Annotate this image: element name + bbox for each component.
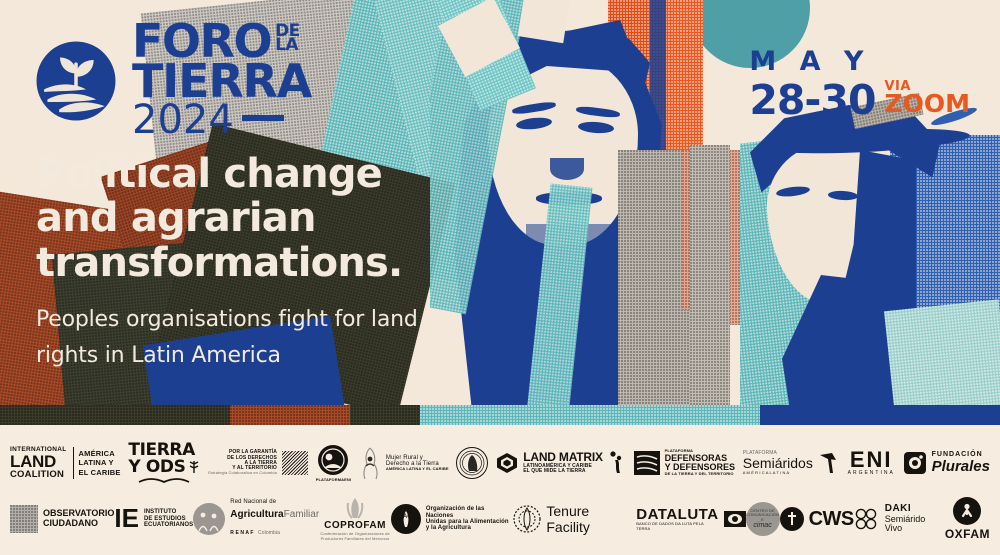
logo-red-nacional-agricultura-familiar: Red Nacional de AgriculturaFamiliar R E … (193, 499, 319, 539)
logo-mujer-rural: Mujer Rural y Derecho a la Tierra AMÉRIC… (359, 446, 449, 480)
headline-line-1: Political change (36, 152, 466, 196)
logo-fundacion-plurales: FUNDACIÓN Plurales (903, 451, 990, 475)
logo-eni-argentina: ENI ARGENTINA (848, 449, 895, 476)
observatorio-line-2: CIUDADANO (43, 519, 114, 529)
renaf-line-2b: Colombia (258, 530, 280, 536)
eni-argentina-line-2: ARGENTINA (848, 471, 895, 476)
cws-cross-icon (780, 507, 804, 531)
plataforma-eni-suffix: ENI (344, 477, 351, 482)
oxfam-label: OXFAM (945, 527, 990, 541)
partner-row-2: OBSERVATORIO CIUDADANO IE INSTITUTO DE E… (10, 491, 990, 547)
mujer-rural-figure-icon (359, 446, 381, 480)
logo-daki-semiarido-vivo: DAKI Semiárido Vivo (854, 504, 945, 534)
event-poster: FORO DE LA TIERRA 2024 M A Y 28-30 VIA Z… (0, 0, 1000, 555)
coprofam-line-2: Confederación de Organizaciones de Produ… (319, 532, 391, 541)
logo-land-matrix: LAND MATRIX LATINOAMÉRICA Y CARIBE EL QU… (496, 451, 626, 475)
logo-coprofam: COPROFAM Confederación de Organizaciones… (319, 497, 391, 541)
portrait-nose (550, 158, 584, 180)
renaf-figures-icon (193, 503, 225, 535)
ilc-region-3: EL CARIBE (79, 468, 121, 477)
land-matrix-line-3: EL QUE MIDE LA TIERRA (523, 469, 603, 474)
plurales-mark-icon (903, 451, 927, 475)
partner-row-1: INTERNATIONAL LAND COALITION AMÉRICA LAT… (10, 435, 990, 491)
garantia-line-5: Estrategia Colaborativa en Colombia (208, 471, 277, 475)
event-platform: ZOOM (884, 89, 970, 118)
cimac-line-3: cimac (753, 522, 771, 529)
fao-emblem-icon: FAO (391, 504, 421, 534)
land-matrix-map-icon (608, 451, 626, 475)
plataforma-eni-emblem-icon (318, 445, 348, 475)
semiaridos-line-1: Semiáridos (743, 456, 813, 471)
observatorio-mark-icon (10, 505, 38, 533)
partner-logo-strip: INTERNATIONAL LAND COALITION AMÉRICA LAT… (0, 425, 1000, 555)
subheadline-line-1: Peoples organisations fight for land (36, 302, 466, 338)
plataforma-eni-word: PLATAFORMA (316, 477, 344, 482)
bottom-edge-strip-rust (230, 405, 350, 425)
plurales-line-2: Plurales (932, 459, 990, 475)
logo-instituto-estudios-ecuatorianos: IE INSTITUTO DE ESTUDIOS ECUATORIANOS (114, 507, 193, 530)
logo-por-la-garantia: POR LA GARANTÍA DE LOS DERECHOS A LA TIE… (208, 450, 308, 475)
tenure-facility-globe-icon (513, 505, 541, 533)
logo-observatorio-ciudadano: OBSERVATORIO CIUDADANO (10, 505, 114, 533)
coprofam-mark-icon (340, 497, 370, 519)
mujer-rural-line-3: AMÉRICA LATINA Y EL CARIBE (386, 467, 449, 471)
logo-plataforma-eni: PLATAFORMAENI (316, 445, 351, 482)
center-portrait-group (430, 0, 720, 425)
renaf-line-1: Agricultura (230, 509, 283, 520)
semiaridos-line-2: A M É R I C A L A T I N A (743, 471, 813, 475)
logo-dataluta: DATALUTA BANCO DE DADOS DA LUTA PELA TER… (636, 507, 745, 530)
seal-emblem-icon (456, 447, 488, 479)
eni-argentina-line-1: ENI (848, 449, 895, 471)
ilc-line-3: COALITION (10, 470, 67, 480)
logo-dela: DE LA (275, 22, 300, 53)
logo-tierra: TIERRA (132, 61, 311, 101)
svg-text:FAO: FAO (400, 513, 412, 520)
iee-monogram-icon: IE (114, 507, 139, 530)
land-matrix-cube-icon (496, 452, 518, 474)
fao-line-1: Organización de las Naciones (426, 506, 514, 519)
defensoras-line-3: DE LA TIERRA Y DEL TERRITORIO (665, 472, 735, 476)
renaf-line-1b: Familiar (284, 509, 320, 520)
logo-cimac: CENTRO DE COMUNICACIÓN E cimac (746, 502, 780, 536)
plant-in-circle-icon (34, 39, 118, 123)
ilc-region-1: AMÉRICA (79, 449, 121, 458)
daki-line-2: Semiárido Vivo (885, 515, 945, 534)
cream-slash-2 (518, 0, 573, 43)
logo-semiaridos: PLATAFORMA Semiáridos A M É R I C A L A … (743, 451, 840, 475)
dataluta-line-1: DATALUTA (636, 507, 718, 522)
dataluta-flag-icon (724, 511, 746, 527)
tenure-facility-label: Tenure Facility (546, 503, 636, 535)
plataforma-eni-label: PLATAFORMAENI (316, 477, 351, 482)
grey-column-right (618, 150, 690, 425)
right-portrait-highlight (810, 223, 824, 237)
iee-mark-text: IE (114, 507, 139, 530)
cimac-line-1: COMUNICACIÓN E (746, 512, 779, 521)
logo-tenure-facility: Tenure Facility (513, 503, 636, 535)
logo-la: LA (275, 35, 298, 55)
logo-tierra-y-ods: TIERRA Y ODS (128, 442, 200, 483)
headline-line-3: transformations. (36, 241, 466, 285)
semiaridos-bird-icon (818, 451, 840, 475)
garantia-swatch-icon (282, 451, 308, 475)
logo-plataforma-defensoras: PLATAFORMA DEFENSORAS Y DEFENSORES DE LA… (634, 449, 735, 476)
logo-cws: CWS (780, 507, 854, 531)
renaf-line-2: R E N A F (230, 530, 253, 536)
fao-line-3: y la Agricultura (426, 525, 514, 531)
logo-international-land-coalition: INTERNATIONAL LAND COALITION AMÉRICA LAT… (10, 447, 121, 480)
iee-line-3: ECUATORIANOS (144, 522, 193, 528)
event-days: 28-30 (749, 82, 875, 119)
logo-year: 2024 (132, 101, 234, 139)
dataluta-line-2: BANCO DE DADOS DA LUTA PELA TERRA (636, 522, 718, 530)
logo-oxfam: OXFAM (945, 497, 990, 541)
headline-block: Political change and agrarian transforma… (36, 152, 466, 373)
defensoras-emblem-icon (634, 451, 660, 475)
coprofam-line-1: COPROFAM (324, 520, 386, 531)
bottom-edge-strip-blue (760, 405, 1000, 425)
wheat-icon (188, 460, 200, 474)
furrow-icon (128, 476, 200, 484)
cws-label: CWS (809, 508, 854, 531)
cimac-emblem-icon: CENTRO DE COMUNICACIÓN E cimac (746, 502, 780, 536)
logo-seal-emblem (456, 447, 488, 479)
subheadline-line-2: rights in Latin America (36, 338, 466, 374)
event-month: M A Y (749, 48, 970, 75)
logo-fao: FAO Organización de las Naciones Unidas … (391, 504, 513, 534)
event-date-block: M A Y 28-30 VIA ZOOM (749, 48, 970, 119)
daki-mark-icon (854, 508, 880, 530)
bottom-edge-strip-teal (420, 405, 760, 425)
tierraods-line-2: Y ODS (128, 459, 185, 475)
grey-block-right (690, 145, 730, 425)
ilc-region-2: LATINA Y (79, 458, 121, 467)
logo-wordmark: FORO DE LA TIERRA 2024 (132, 22, 311, 139)
oxfam-figure-icon (953, 497, 981, 525)
ilc-line-2: LAND (10, 454, 67, 470)
foro-de-la-tierra-logo: FORO DE LA TIERRA 2024 (34, 22, 311, 139)
headline-line-2: and agrarian (36, 196, 466, 240)
logo-underline (242, 115, 284, 121)
